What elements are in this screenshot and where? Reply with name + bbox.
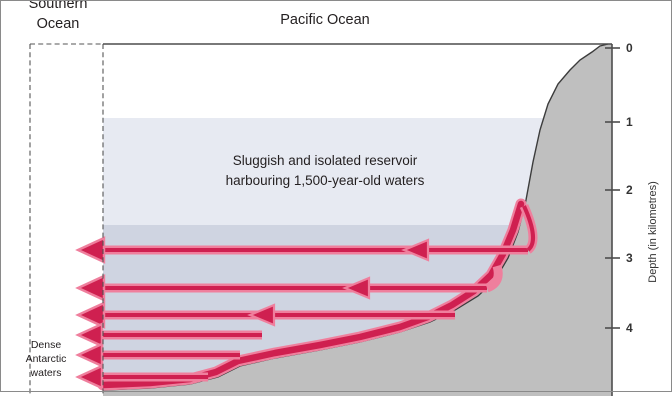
depth-tick-label-0: 0 [626,41,633,55]
label-southern-ocean-line1: Southern [29,0,88,12]
annotation-reservoir-line2: harbouring 1,500-year-old waters [226,173,425,188]
water-layer-surface [103,44,613,118]
depth-tick-label-2: 2 [626,183,633,197]
flow-arrow-3-head [78,303,104,327]
flow-arrow-5-head [78,344,102,366]
depth-tick-label-1: 1 [626,115,633,129]
depth-tick-label-3: 3 [626,251,633,265]
flow-arrow-4-head [78,324,102,346]
ocean-depth-diagram: 0 1 2 3 4 Depth (in kilometres) Southern… [0,0,672,402]
depth-axis: 0 1 2 3 4 Depth (in kilometres) [605,41,659,396]
annotation-reservoir-line1: Sluggish and isolated reservoir [233,153,418,168]
label-southern-ocean-line2: Ocean [37,16,80,32]
depth-axis-title: Depth (in kilometres) [647,181,659,282]
label-dense-antarctic-line2: Antarctic [26,353,67,365]
flow-arrow-6-head [78,366,102,388]
flow-arrow-2-head [78,276,104,300]
flow-arrow-1-head [78,238,104,262]
label-dense-antarctic-line3: waters [30,367,62,379]
label-pacific-ocean: Pacific Ocean [280,12,369,28]
depth-tick-label-4: 4 [626,321,633,335]
ocean-cross-section-figure: 0 1 2 3 4 Depth (in kilometres) Southern… [0,0,672,402]
label-dense-antarctic-line1: Dense [31,339,62,351]
